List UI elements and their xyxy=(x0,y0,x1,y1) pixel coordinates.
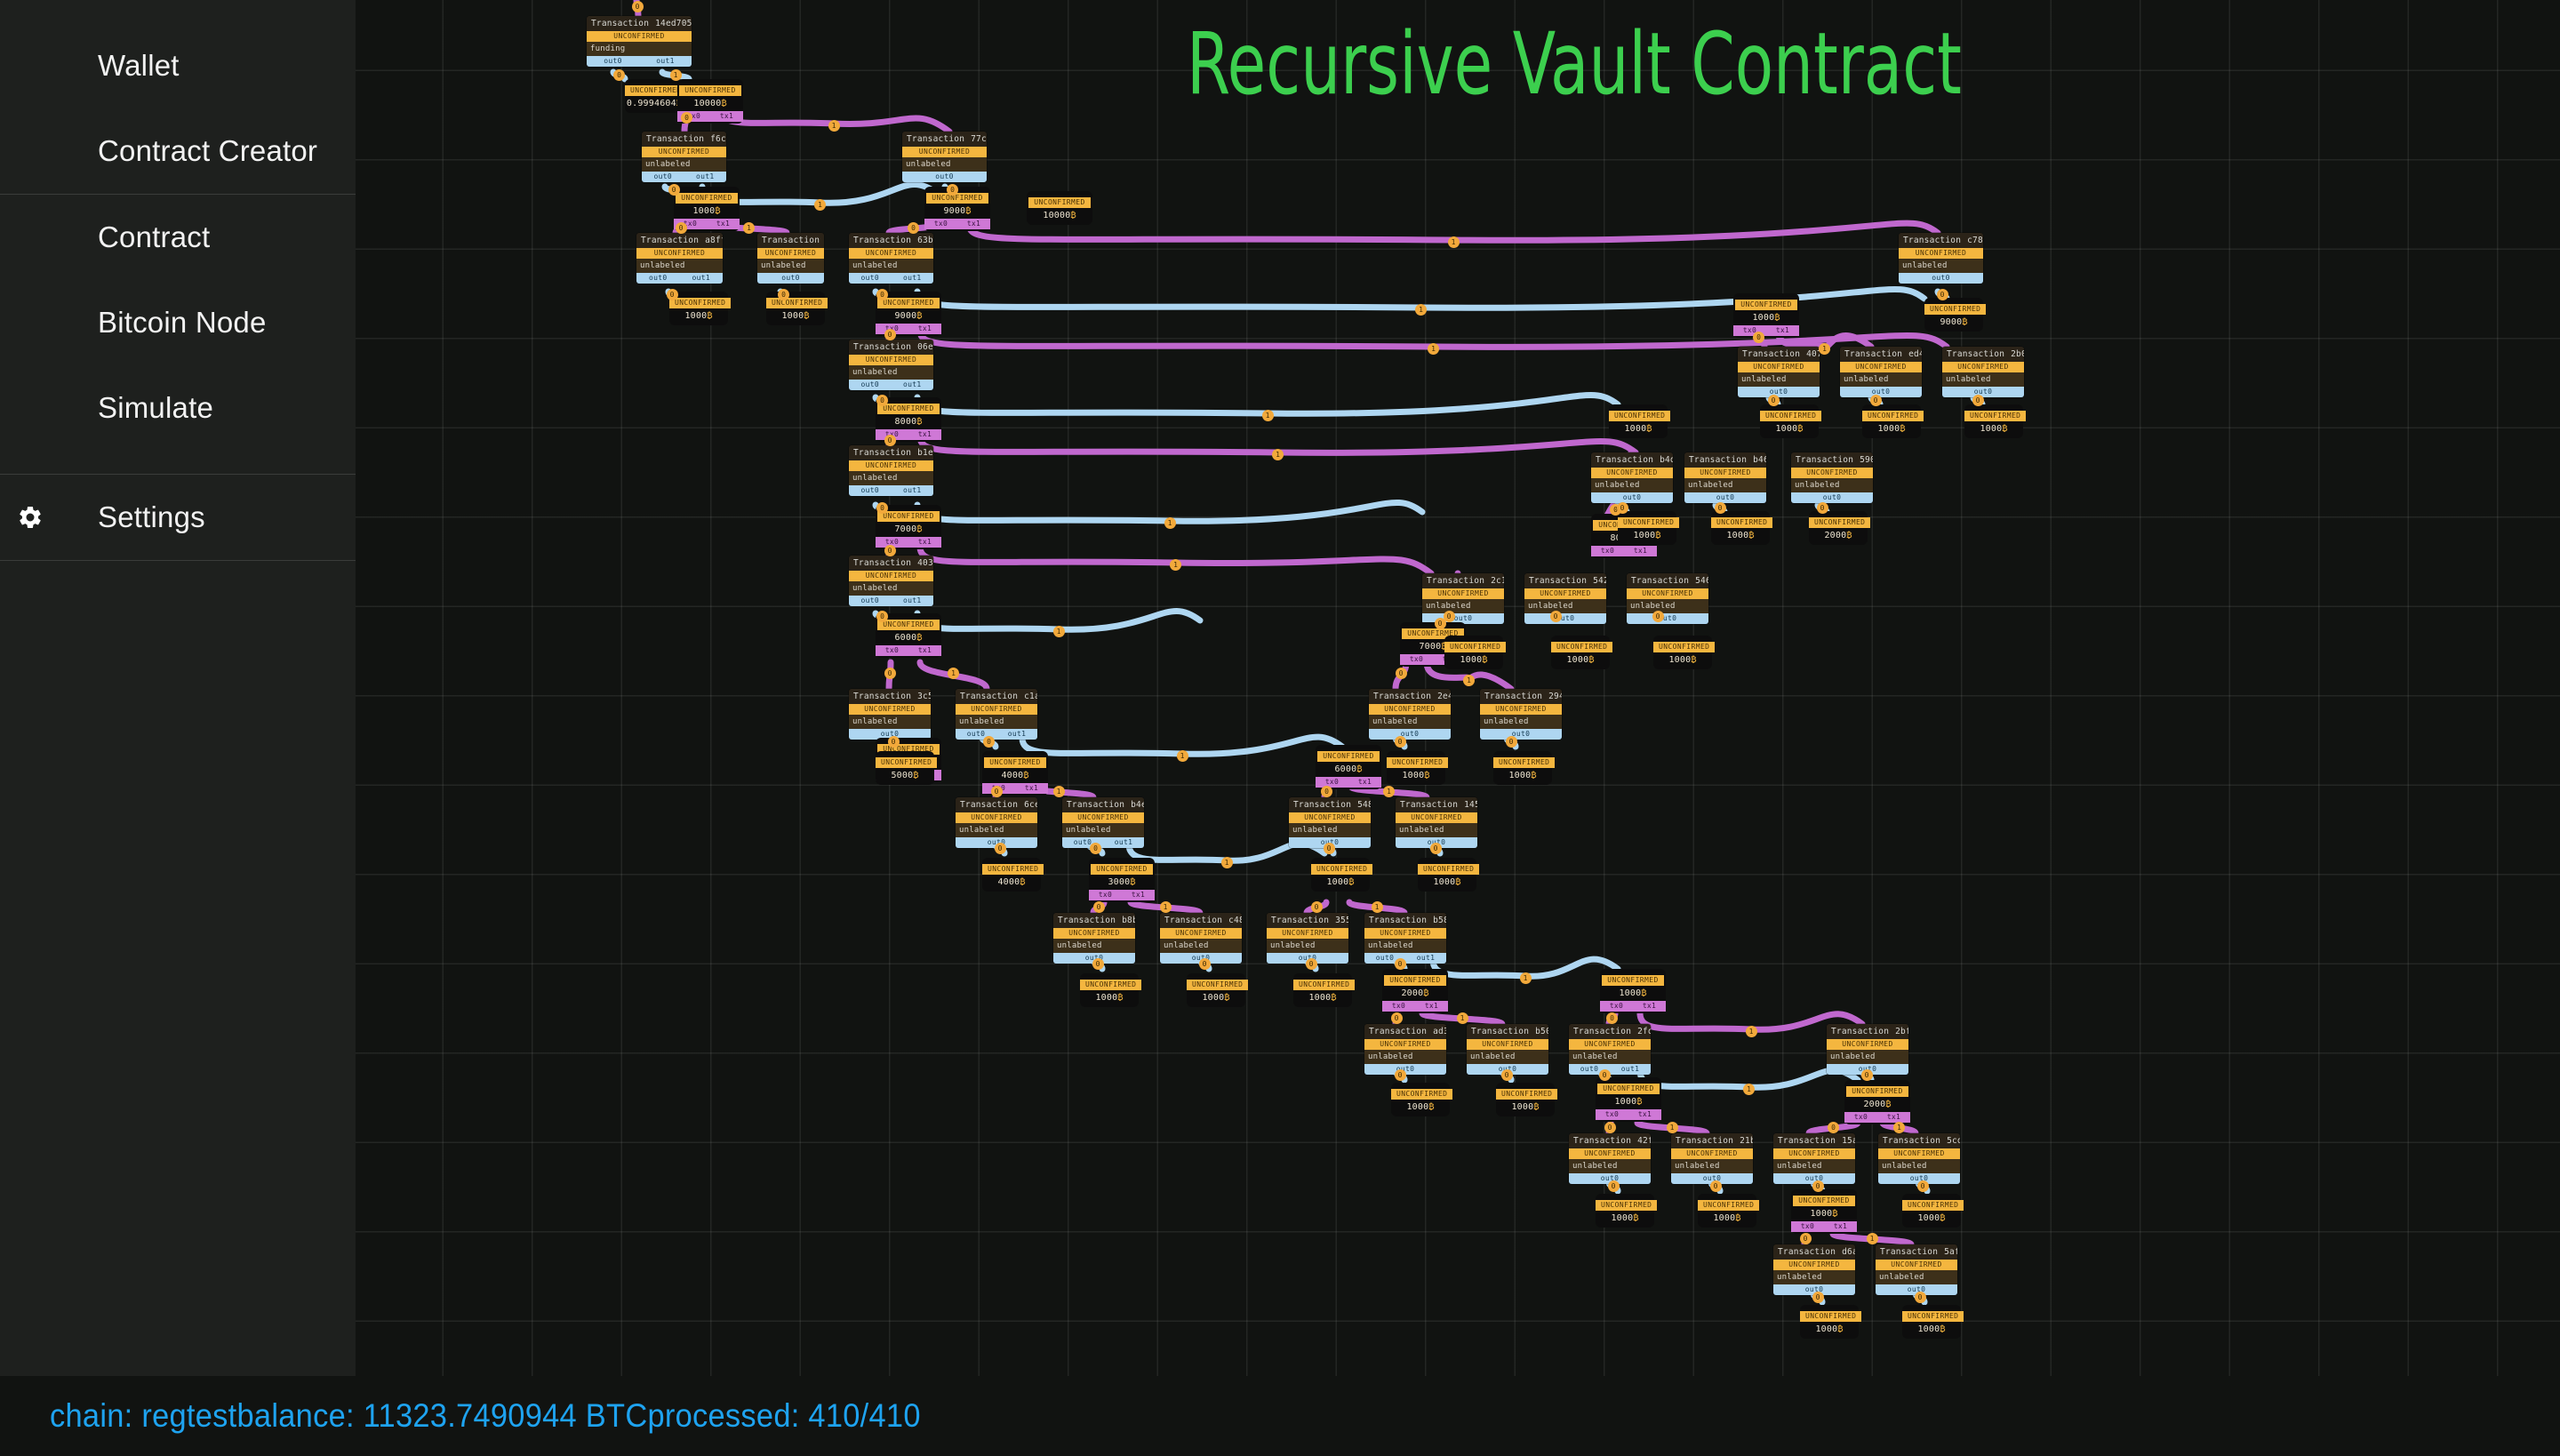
transaction-node[interactable]: Transaction5468f18309fb62fbUNCONFIRMEDun… xyxy=(1627,573,1708,624)
transaction-status-badge: UNCONFIRMED xyxy=(902,147,987,157)
utxo-amount-value: 1000 xyxy=(1326,877,1348,887)
transaction-node[interactable]: Transactionb46b4007926b1346UNCONFIRMEDun… xyxy=(1684,452,1766,503)
transaction-node[interactable]: Transactionb4e9b2a59f762f19UNCONFIRMEDun… xyxy=(1062,797,1144,848)
utxo-amount: 1000₿ xyxy=(1600,987,1666,1001)
transaction-node[interactable]: Transaction29486dc00cb0b97bUNCONFIRMEDun… xyxy=(1480,689,1562,740)
utxo-status-wrap: UNCONFIRMED xyxy=(982,753,1048,769)
transaction-prefix: Transaction xyxy=(1400,797,1458,812)
transaction-node[interactable]: Transaction2e40f8fc45c4a18fUNCONFIRMEDun… xyxy=(1369,689,1451,740)
transaction-outputs-row[interactable]: out0out1 xyxy=(587,56,692,67)
transaction-txid: c48b5c4fad3cf1 xyxy=(1228,913,1242,928)
transaction-txid: b5812fe1dd0ba47 xyxy=(1433,913,1446,928)
utxo-status-badge: UNCONFIRMED xyxy=(1444,642,1506,652)
utxo-status-wrap: UNCONFIRMED xyxy=(1698,1196,1756,1212)
utxo-amount: 1000₿ xyxy=(1698,1212,1756,1226)
utxo-node[interactable]: UNCONFIRMED1000₿ xyxy=(1653,636,1712,669)
bitcoin-symbol-icon: ₿ xyxy=(1636,1097,1642,1107)
utxo-amount: 1000₿ xyxy=(1551,653,1610,668)
utxo-node[interactable]: UNCONFIRMED4000₿ xyxy=(982,858,1041,892)
edge-index-badge: 0 xyxy=(884,435,896,446)
utxo-node[interactable]: UNCONFIRMED10000₿ xyxy=(1027,191,1092,225)
bitcoin-symbol-icon: ₿ xyxy=(1356,764,1362,774)
utxo-status-badge: UNCONFIRMED xyxy=(1091,864,1152,875)
utxo-node[interactable]: UNCONFIRMED1000₿ xyxy=(1800,1305,1859,1339)
transaction-node[interactable]: Transactionc1a0519e2fa6f66dUNCONFIRMEDun… xyxy=(956,689,1037,740)
bitcoin-symbol-icon: ₿ xyxy=(913,771,918,780)
transaction-prefix: Transaction xyxy=(853,445,911,460)
spend-port-0[interactable]: tx0 xyxy=(1099,890,1112,900)
bitcoin-symbol-icon: ₿ xyxy=(1424,771,1429,780)
utxo-node[interactable]: UNCONFIRMED3000₿tx0tx1 xyxy=(1089,858,1155,902)
utxo-node[interactable]: UNCONFIRMED1000₿tx0tx1 xyxy=(1733,293,1799,338)
utxo-node[interactable]: UNCONFIRMED1000₿ xyxy=(1698,1194,1756,1228)
transaction-label: unlabeled xyxy=(1684,478,1766,492)
edge-index-badge: 1 xyxy=(1743,1084,1755,1095)
utxo-amount-value: 1000 xyxy=(1633,531,1655,540)
output-port-1[interactable]: out1 xyxy=(1621,1064,1639,1075)
spend-port-1[interactable]: tx1 xyxy=(716,219,730,229)
utxo-node[interactable]: UNCONFIRMED5000₿ xyxy=(876,751,934,785)
transaction-node[interactable]: Transaction2fd8c94f63ef68a5UNCONFIRMEDun… xyxy=(1569,1024,1651,1075)
utxo-node[interactable]: UNCONFIRMED1000₿tx0tx1 xyxy=(1600,969,1666,1013)
utxo-node[interactable]: UNCONFIRMED1000₿ xyxy=(1551,636,1610,669)
status-processed-value: 410/410 xyxy=(808,1397,920,1434)
utxo-status-badge: UNCONFIRMED xyxy=(1596,1200,1657,1211)
utxo-amount: 4000₿ xyxy=(982,769,1048,783)
edge-index-badge: 1 xyxy=(948,668,959,679)
utxo-node[interactable]: UNCONFIRMED1000₿ xyxy=(1609,404,1668,438)
transaction-label: unlabeled xyxy=(1053,939,1135,953)
sidebar-item-label: Settings xyxy=(98,500,205,534)
transaction-txid: 6ce65949b2556e220 xyxy=(1024,797,1037,812)
edge-index-badge: 0 xyxy=(1306,958,1317,970)
transaction-node[interactable]: Transactionc48b5c4fad3cf1UNCONFIRMEDunla… xyxy=(1160,913,1242,964)
graph-canvas[interactable]: Transaction14ed705074146b04UNCONFIRMEDfu… xyxy=(0,0,2560,1413)
utxo-spends-row[interactable]: tx0tx1 xyxy=(1791,1221,1857,1232)
edge-index-badge: 1 xyxy=(1819,343,1830,355)
spend-port-1[interactable]: tx1 xyxy=(1025,783,1038,794)
transaction-txid: 06e774417abcc78b xyxy=(917,340,933,355)
transaction-prefix: Transaction xyxy=(853,340,911,355)
sidebar-item-contract[interactable]: Contract xyxy=(0,195,356,280)
utxo-node[interactable]: UNCONFIRMED1000₿tx0tx1 xyxy=(1791,1189,1857,1234)
edge-index-badge: 0 xyxy=(667,289,678,300)
transaction-header: Transaction3c59a0174c16ad71 xyxy=(849,689,931,704)
utxo-spends-row[interactable]: tx0tx1 xyxy=(1600,1001,1666,1012)
sidebar-top-spacer xyxy=(0,0,356,23)
bitcoin-symbol-icon: ₿ xyxy=(1748,531,1754,540)
utxo-node[interactable]: UNCONFIRMED1000₿ xyxy=(766,292,825,325)
edge-index-badge: 0 xyxy=(1604,1122,1616,1133)
edge-index-badge: 1 xyxy=(1262,410,1274,421)
utxo-status-badge: UNCONFIRMED xyxy=(1609,411,1670,421)
edge-index-badge: 1 xyxy=(1867,1233,1878,1244)
transaction-outputs-row[interactable]: out0 xyxy=(1791,492,1873,503)
transaction-outputs-row[interactable]: out0 xyxy=(1591,492,1673,503)
utxo-node[interactable]: UNCONFIRMED1000₿ xyxy=(1964,404,2023,438)
utxo-node[interactable]: UNCONFIRMED1000₿ xyxy=(1493,751,1552,785)
utxo-node[interactable]: UNCONFIRMED1000₿ xyxy=(1618,511,1676,545)
utxo-node[interactable]: UNCONFIRMED1000₿ xyxy=(1902,1194,1961,1228)
transaction-outputs-row[interactable]: out0 xyxy=(1738,387,1820,397)
transaction-node[interactable]: Transactioned4762b2bd6301004UNCONFIRMEDu… xyxy=(1840,347,1922,397)
bitcoin-symbol-icon: ₿ xyxy=(1940,1324,1945,1334)
transaction-node[interactable]: Transactionb5812fe1dd0ba47UNCONFIRMEDunl… xyxy=(1364,913,1446,964)
spend-port-1[interactable]: tx1 xyxy=(918,324,932,334)
transaction-outputs-row[interactable]: out0out1 xyxy=(849,380,933,390)
output-port-0[interactable]: out0 xyxy=(604,56,621,67)
utxo-amount-value: 1000 xyxy=(1917,1213,1940,1223)
utxo-status-wrap: UNCONFIRMED xyxy=(625,81,684,97)
transaction-label: unlabeled xyxy=(1289,823,1371,837)
output-port-0[interactable]: out0 xyxy=(654,172,672,182)
page-title: Recursive Vault Contract xyxy=(1187,20,1962,109)
output-port-0[interactable]: out0 xyxy=(1823,492,1841,503)
edge-index-badge: 1 xyxy=(1893,1122,1905,1133)
transaction-outputs-row[interactable]: out0out1 xyxy=(849,273,933,284)
transaction-node[interactable]: Transaction54808ab4b0e0b9b9UNCONFIRMEDun… xyxy=(1289,797,1371,848)
bitcoin-symbol-icon: ₿ xyxy=(916,311,922,321)
utxo-node[interactable]: UNCONFIRMED1000₿ xyxy=(669,292,728,325)
transaction-node[interactable]: Transaction5908533c68097eb7UNCONFIRMEDun… xyxy=(1791,452,1873,503)
transaction-outputs-row[interactable]: out0out1 xyxy=(956,729,1037,740)
transaction-node[interactable]: Transactiond6a3ee048a73b50dUNCONFIRMEDun… xyxy=(1773,1244,1855,1295)
transaction-header: Transactionf6c05e629471c829 xyxy=(642,132,726,147)
edge-index-badge: 1 xyxy=(1372,901,1383,913)
transaction-txid: b1e04c634412d267 xyxy=(917,445,933,460)
output-port-0[interactable]: out0 xyxy=(935,172,953,182)
utxo-amount: 1000₿ xyxy=(1493,769,1552,783)
edge-index-badge: 1 xyxy=(1221,857,1233,868)
bitcoin-symbol-icon: ₿ xyxy=(715,206,720,216)
sidebar-item-settings[interactable]: Settings xyxy=(0,475,356,560)
edge-index-badge: 1 xyxy=(1457,1012,1468,1024)
transaction-node[interactable]: Transaction542711807b42dcf8UNCONFIRMEDun… xyxy=(1524,573,1606,624)
transaction-node[interactable]: Transactiona8ff38b39b1c0b11UNCONFIRMEDun… xyxy=(636,233,723,284)
utxo-amount: 9000₿ xyxy=(1924,316,1983,330)
bitcoin-symbol-icon: ₿ xyxy=(1428,1102,1434,1112)
transaction-node[interactable]: Transaction3557b1da9573093UNCONFIRMEDunl… xyxy=(1267,913,1348,964)
utxo-node[interactable]: UNCONFIRMED1000₿ xyxy=(1187,973,1245,1007)
spend-port-0[interactable]: tx0 xyxy=(934,219,948,229)
utxo-spends-row[interactable]: tx0tx1 xyxy=(1733,325,1799,336)
transaction-outputs-row[interactable]: out0out1 xyxy=(636,273,723,284)
utxo-amount-value: 1000 xyxy=(1624,424,1646,434)
transaction-outputs-row[interactable]: out0out1 xyxy=(642,172,726,182)
transaction-node[interactable]: Transaction42f9e5da9090d538UNCONFIRMEDun… xyxy=(1569,1133,1651,1184)
transaction-node[interactable]: Transaction77cab2f092e651ccUNCONFIRMEDun… xyxy=(902,132,987,182)
transaction-node[interactable]: Transaction2c120b063e0341f2UNCONFIRMEDun… xyxy=(1422,573,1504,624)
edge-index-badge: 0 xyxy=(668,184,680,196)
output-port-1[interactable]: out1 xyxy=(1008,729,1026,740)
transaction-outputs-row[interactable]: out0 xyxy=(1480,729,1562,740)
utxo-amount: 9000₿ xyxy=(876,309,941,324)
transaction-header: Transactiond6a3ee048a73b50d xyxy=(1773,1244,1855,1260)
bitcoin-symbol-icon: ₿ xyxy=(1531,771,1536,780)
transaction-outputs-row[interactable]: out0out1 xyxy=(849,596,933,606)
utxo-amount: 1000₿ xyxy=(1711,529,1770,543)
utxo-node[interactable]: UNCONFIRMED1000₿ xyxy=(1711,511,1770,545)
utxo-spends-row[interactable]: tx0tx1 xyxy=(876,645,941,656)
bitcoin-symbol-icon: ₿ xyxy=(916,524,922,534)
edge-index-badge: 0 xyxy=(876,395,888,406)
sidebar-group-0: WalletContract Creator xyxy=(0,0,356,195)
output-port-1[interactable]: out1 xyxy=(692,273,710,284)
spend-port-1[interactable]: tx1 xyxy=(918,429,932,440)
output-port-0[interactable]: out0 xyxy=(861,380,879,390)
utxo-amount: 1000₿ xyxy=(1387,769,1445,783)
utxo-node[interactable]: UNCONFIRMED1000₿ xyxy=(1760,404,1819,438)
utxo-node[interactable]: UNCONFIRMED2000₿ xyxy=(1809,511,1868,545)
utxo-node[interactable]: UNCONFIRMED1000₿ xyxy=(1387,751,1445,785)
transaction-status-badge: UNCONFIRMED xyxy=(1878,1148,1960,1159)
utxo-status-badge: UNCONFIRMED xyxy=(1384,975,1445,986)
transaction-status-badge: UNCONFIRMED xyxy=(1791,468,1873,478)
utxo-spends-row[interactable]: tx0tx1 xyxy=(924,219,990,229)
transaction-node[interactable]: Transaction5af90797989f51b4UNCONFIRMEDun… xyxy=(1876,1244,1957,1295)
sidebar-item-label: Contract Creator xyxy=(98,134,317,168)
transaction-node[interactable]: Transaction63b0bab2805670d7UNCONFIRMEDun… xyxy=(849,233,933,284)
utxo-amount-value: 1000 xyxy=(1619,988,1641,998)
utxo-node[interactable]: UNCONFIRMED1000₿ xyxy=(1444,636,1503,669)
transaction-prefix: Transaction xyxy=(1903,233,1961,248)
utxo-amount-value: 1000 xyxy=(1614,1097,1636,1107)
transaction-node[interactable]: Transactionf6c05e629471c829UNCONFIRMEDun… xyxy=(642,132,726,182)
spend-port-1[interactable]: tx1 xyxy=(918,645,932,656)
edge-index-badge: 0 xyxy=(1395,736,1406,748)
transaction-label: funding xyxy=(587,42,692,56)
transaction-status-badge: UNCONFIRMED xyxy=(1827,1039,1908,1050)
transaction-status-badge: UNCONFIRMED xyxy=(1684,468,1766,478)
transaction-node[interactable]: Transaction15a5f99ce8b1ef12UNCONFIRMEDun… xyxy=(1773,1133,1855,1184)
spend-port-0[interactable]: tx0 xyxy=(1610,1001,1623,1012)
transaction-node[interactable]: Transaction2b00d25944e4d977UNCONFIRMEDun… xyxy=(1942,347,2024,397)
output-port-1[interactable]: out1 xyxy=(903,380,921,390)
transaction-label: unlabeled xyxy=(1899,259,1983,273)
transaction-label: unlabeled xyxy=(1569,1050,1651,1064)
spend-port-0[interactable]: tx0 xyxy=(1801,1221,1814,1232)
transaction-node[interactable]: Transactionc63ffc0b3fe921a4UNCONFIRMEDun… xyxy=(757,233,824,284)
spend-port-1[interactable]: tx1 xyxy=(1638,1109,1652,1120)
sidebar-item-wallet[interactable]: Wallet xyxy=(0,23,356,108)
output-port-1[interactable]: out1 xyxy=(1417,953,1435,964)
transaction-node[interactable]: Transaction6ce65949b2556e220UNCONFIRMEDu… xyxy=(956,797,1037,848)
utxo-amount: 8000₿ xyxy=(876,415,941,429)
utxo-node[interactable]: UNCONFIRMED0.9994604₿ xyxy=(625,79,684,113)
transaction-status-badge: UNCONFIRMED xyxy=(849,571,933,581)
utxo-status-wrap: UNCONFIRMED xyxy=(876,753,934,769)
spend-port-0[interactable]: tx0 xyxy=(1601,546,1614,556)
transaction-prefix: Transaction xyxy=(1778,1244,1836,1260)
output-port-1[interactable]: out1 xyxy=(656,56,674,67)
spend-port-1[interactable]: tx1 xyxy=(967,219,980,229)
utxo-node[interactable]: UNCONFIRMED1000₿ xyxy=(1418,858,1476,892)
utxo-node[interactable]: UNCONFIRMED1000₿ xyxy=(1311,858,1370,892)
spend-port-0[interactable]: tx0 xyxy=(1605,1109,1619,1120)
output-port-0[interactable]: out0 xyxy=(1580,1064,1598,1075)
edge-index-badge: 1 xyxy=(1164,517,1176,529)
utxo-node[interactable]: UNCONFIRMED2000₿tx0tx1 xyxy=(1844,1080,1910,1124)
output-port-0[interactable]: out0 xyxy=(967,729,985,740)
utxo-node[interactable]: UNCONFIRMED1000₿ xyxy=(1902,1305,1961,1339)
transaction-header: Transaction2b00d25944e4d977 xyxy=(1942,347,2024,362)
sidebar-item-simulate[interactable]: Simulate xyxy=(0,365,356,451)
utxo-status-badge: UNCONFIRMED xyxy=(1618,517,1679,528)
sidebar-item-label: Contract xyxy=(98,220,210,254)
transaction-prefix: Transaction xyxy=(1883,1133,1940,1148)
utxo-node[interactable]: UNCONFIRMED6000₿tx0tx1 xyxy=(1316,745,1381,789)
output-port-0[interactable]: out0 xyxy=(1932,273,1949,284)
output-port-0[interactable]: out0 xyxy=(861,273,879,284)
transaction-label: unlabeled xyxy=(1480,715,1562,729)
utxo-node[interactable]: UNCONFIRMED9000₿tx0tx1 xyxy=(924,187,990,231)
utxo-spends-row[interactable]: tx0tx1 xyxy=(1591,546,1657,556)
transaction-header: Transactionb5812fe1dd0ba47 xyxy=(1364,913,1446,928)
utxo-amount-value: 10000 xyxy=(693,99,721,108)
output-port-0[interactable]: out0 xyxy=(1623,492,1641,503)
utxo-node[interactable]: UNCONFIRMED1000₿ xyxy=(1496,1083,1555,1116)
transaction-outputs-row[interactable]: out0 xyxy=(1684,492,1766,503)
spend-port-1[interactable]: tx1 xyxy=(1634,546,1647,556)
edge-index-badge: 0 xyxy=(1828,1122,1839,1133)
sidebar-item-bitcoin-node[interactable]: Bitcoin Node xyxy=(0,280,356,365)
utxo-amount-value: 7000 xyxy=(894,524,916,534)
utxo-amount: 1000₿ xyxy=(669,309,728,324)
transaction-node[interactable]: Transaction14ed705074146b04UNCONFIRMEDfu… xyxy=(587,16,692,67)
output-port-1[interactable]: out1 xyxy=(903,596,921,606)
spend-port-0[interactable]: tx0 xyxy=(885,645,899,656)
edge-index-badge: 0 xyxy=(1753,332,1764,343)
transaction-outputs-row[interactable]: out0out1 xyxy=(1062,837,1144,848)
transaction-header: Transaction4038a408bea3a0ea xyxy=(849,556,933,571)
transaction-outputs-row[interactable]: out0 xyxy=(1524,613,1606,624)
edge-index-badge: 0 xyxy=(876,611,888,622)
transaction-node[interactable]: Transactionc7802c1693b733d5UNCONFIRMEDun… xyxy=(1899,233,1983,284)
transaction-prefix: Transaction xyxy=(853,689,911,704)
transaction-status-badge: UNCONFIRMED xyxy=(956,812,1037,823)
spend-port-1[interactable]: tx1 xyxy=(1643,1001,1656,1012)
utxo-spends-row[interactable]: tx0tx1 xyxy=(1596,1109,1661,1120)
output-port-1[interactable]: out1 xyxy=(696,172,714,182)
output-port-0[interactable]: out0 xyxy=(861,596,879,606)
sidebar-item-contract-creator[interactable]: Contract Creator xyxy=(0,108,356,194)
spend-port-1[interactable]: tx1 xyxy=(918,537,932,548)
utxo-amount: 1000₿ xyxy=(1862,422,1921,436)
spend-port-1[interactable]: tx1 xyxy=(1776,325,1789,336)
transaction-outputs-row[interactable]: out0out1 xyxy=(849,485,933,496)
transaction-prefix: Transaction xyxy=(1573,1024,1631,1039)
output-port-0[interactable]: out0 xyxy=(861,485,879,496)
transaction-label: unlabeled xyxy=(1840,372,1922,387)
transaction-node[interactable]: Transaction407aceb39db09995UNCONFIRMEDun… xyxy=(1738,347,1820,397)
utxo-amount-value: 3000 xyxy=(1108,877,1130,887)
edge-index-badge: 0 xyxy=(632,1,644,12)
transaction-outputs-row[interactable]: out0 xyxy=(757,273,824,284)
utxo-status-wrap: UNCONFIRMED xyxy=(1382,971,1448,987)
edge-index-badge: 0 xyxy=(1311,901,1323,913)
utxo-node[interactable]: UNCONFIRMED9000₿ xyxy=(1924,298,1983,332)
spend-port-1[interactable]: tx1 xyxy=(720,111,733,122)
transaction-prefix: Transaction xyxy=(1831,1024,1889,1039)
spend-port-1[interactable]: tx1 xyxy=(1358,777,1372,788)
utxo-spends-row[interactable]: tx0tx1 xyxy=(1382,1001,1448,1012)
edge-index-badge: 0 xyxy=(1501,1069,1513,1081)
transaction-node[interactable]: Transaction5cdf5a40c260c423UNCONFIRMEDun… xyxy=(1878,1133,1960,1184)
transaction-label: unlabeled xyxy=(1396,823,1477,837)
transaction-header: Transaction5908533c68097eb7 xyxy=(1791,452,1873,468)
transaction-node[interactable]: Transactionb50dd304d0ba5b6dUNCONFIRMEDun… xyxy=(1467,1024,1548,1075)
transaction-node[interactable]: Transaction1454b95064c662fUNCONFIRMEDunl… xyxy=(1396,797,1477,848)
utxo-node[interactable]: UNCONFIRMED2000₿tx0tx1 xyxy=(1382,969,1448,1013)
transaction-node[interactable]: Transaction21b40ca2eb920cbdUNCONFIRMEDun… xyxy=(1671,1133,1753,1184)
utxo-node[interactable]: UNCONFIRMED1000₿ xyxy=(1080,973,1139,1007)
utxo-status-badge: UNCONFIRMED xyxy=(1902,1200,1964,1211)
transaction-prefix: Transaction xyxy=(1596,452,1653,468)
edge-index-badge: 0 xyxy=(1606,1012,1618,1024)
transaction-outputs-row[interactable]: out0 xyxy=(1840,387,1922,397)
transaction-status-badge: UNCONFIRMED xyxy=(849,460,933,471)
utxo-node[interactable]: UNCONFIRMED1000₿ xyxy=(1293,973,1352,1007)
spend-port-1[interactable]: tx1 xyxy=(1132,890,1145,900)
output-port-1[interactable]: out1 xyxy=(903,273,921,284)
utxo-status-badge: UNCONFIRMED xyxy=(1800,1311,1861,1322)
transaction-outputs-row[interactable]: out0 xyxy=(1627,613,1708,624)
utxo-spends-row[interactable]: tx0tx1 xyxy=(1089,890,1155,900)
bitcoin-symbol-icon: ₿ xyxy=(1900,424,1905,434)
edge-index-badge: 1 xyxy=(1177,750,1188,762)
transaction-label: unlabeled xyxy=(1422,599,1504,613)
transaction-node[interactable]: Transaction4038a408bea3a0eaUNCONFIRMEDun… xyxy=(849,556,933,606)
utxo-node[interactable]: UNCONFIRMED1000₿ xyxy=(1391,1083,1450,1116)
transaction-node[interactable]: Transaction3c59a0174c16ad71UNCONFIRMEDun… xyxy=(849,689,931,740)
transaction-status-badge: UNCONFIRMED xyxy=(1364,928,1446,939)
spend-port-1[interactable]: tx1 xyxy=(1834,1221,1847,1232)
output-port-1[interactable]: out1 xyxy=(1115,837,1132,848)
transaction-outputs-row[interactable]: out0 xyxy=(902,172,987,182)
transaction-status-badge: UNCONFIRMED xyxy=(1671,1148,1753,1159)
utxo-node[interactable]: UNCONFIRMED1000₿ xyxy=(1596,1194,1654,1228)
spend-port-0[interactable]: tx0 xyxy=(1410,654,1423,665)
utxo-node[interactable]: UNCONFIRMED1000₿ xyxy=(1862,404,1921,438)
transaction-node[interactable]: Transaction06e774417abcc78bUNCONFIRMEDun… xyxy=(849,340,933,390)
transaction-status-badge: UNCONFIRMED xyxy=(1876,1260,1957,1270)
transaction-outputs-row[interactable]: out0 xyxy=(1899,273,1983,284)
utxo-node[interactable]: UNCONFIRMED1000₿tx0tx1 xyxy=(1596,1077,1661,1122)
transaction-node[interactable]: Transactionb8bb4d851625f0UNCONFIRMEDunla… xyxy=(1053,913,1135,964)
output-port-0[interactable]: out0 xyxy=(781,273,799,284)
utxo-status-wrap: UNCONFIRMED xyxy=(1391,1084,1450,1100)
output-port-1[interactable]: out1 xyxy=(903,485,921,496)
output-port-0[interactable]: out0 xyxy=(1376,953,1394,964)
transaction-node[interactable]: Transactionad3e05d9b463a979UNCONFIRMEDun… xyxy=(1364,1024,1446,1075)
bitcoin-symbol-icon: ₿ xyxy=(1423,988,1428,998)
edge-index-badge: 1 xyxy=(1463,675,1475,686)
spend-port-0[interactable]: tx0 xyxy=(1392,1001,1405,1012)
utxo-amount: 1000₿ xyxy=(1800,1323,1859,1337)
utxo-amount: 1000₿ xyxy=(766,309,825,324)
spend-port-0[interactable]: tx0 xyxy=(1854,1112,1868,1123)
transaction-outputs-row[interactable]: out0 xyxy=(1942,387,2024,397)
transaction-outputs-row[interactable]: out0 xyxy=(1369,729,1451,740)
transaction-header: Transactionad3e05d9b463a979 xyxy=(1364,1024,1446,1039)
utxo-status-wrap: UNCONFIRMED xyxy=(1293,975,1352,991)
transaction-node[interactable]: Transactionb4d381b8a635b547UNCONFIRMEDun… xyxy=(1591,452,1673,503)
edge-index-badge: 0 xyxy=(991,786,1003,797)
transaction-node[interactable]: Transaction2bf1a10774a0c077UNCONFIRMEDun… xyxy=(1827,1024,1908,1075)
output-port-0[interactable]: out0 xyxy=(649,273,667,284)
spend-port-1[interactable]: tx1 xyxy=(1425,1001,1438,1012)
transaction-node[interactable]: Transactionb1e04c634412d267UNCONFIRMEDun… xyxy=(849,445,933,496)
